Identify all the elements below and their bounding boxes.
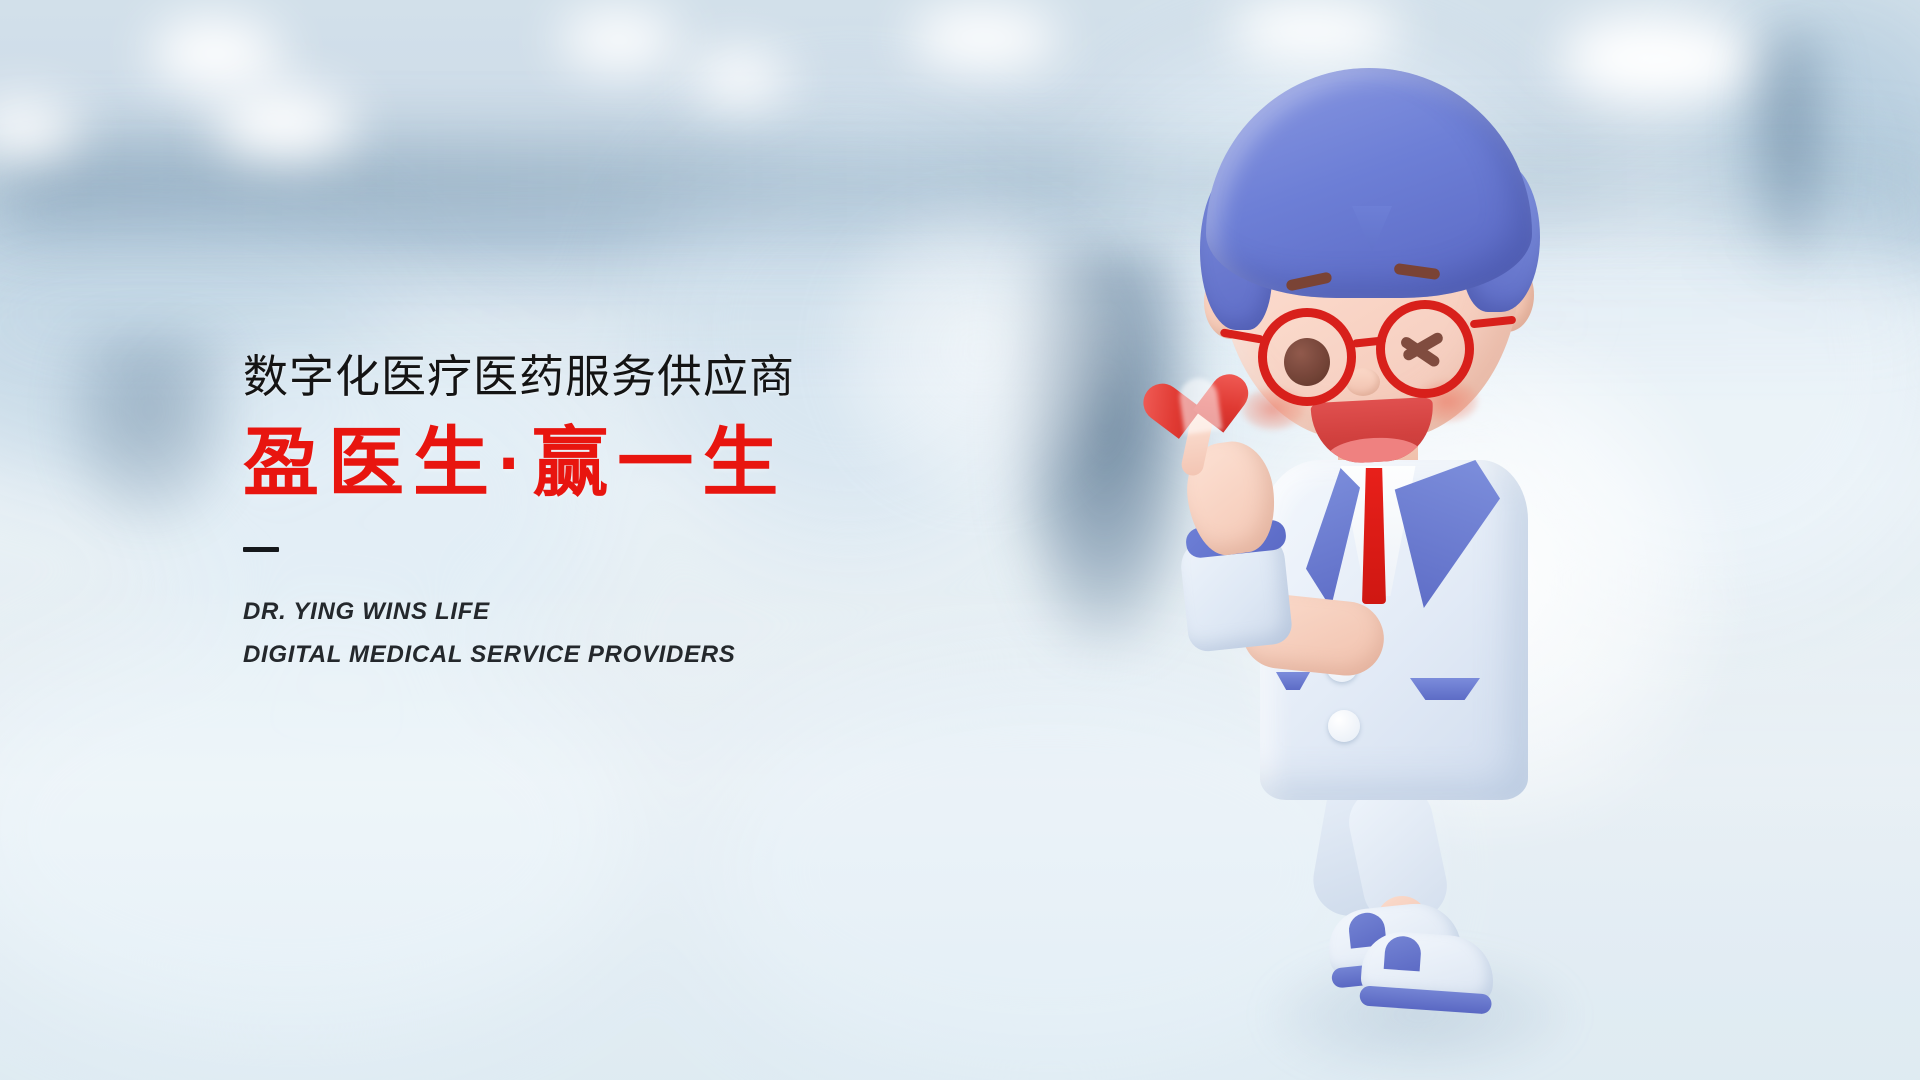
ceiling-light [690, 52, 790, 104]
mascot-hair [1206, 68, 1532, 298]
ceiling-light [215, 88, 355, 158]
hero-english-block: DR. YING WINS LIFE DIGITAL MEDICAL SERVI… [243, 590, 963, 676]
ceiling-light [910, 6, 1060, 70]
mascot-glasses-lens-right [1376, 300, 1474, 398]
mascot-glasses-lens-left [1258, 308, 1356, 406]
background-column-shadow [1745, 30, 1835, 270]
ceiling-light [152, 18, 282, 90]
hero-headline: 盈医生·赢一生 [243, 424, 963, 504]
hero-copy: 数字化医疗医药服务供应商 盈医生·赢一生 DR. YING WINS LIFE … [243, 352, 963, 676]
hero-english-line-2: DIGITAL MEDICAL SERVICE PROVIDERS [243, 633, 963, 676]
mascot-coat-button [1328, 710, 1360, 742]
hero-subtitle: 数字化医疗医药服务供应商 [243, 352, 963, 402]
mascot-mouth [1310, 397, 1435, 465]
mascot-red-tie [1362, 468, 1386, 604]
hero-banner: 数字化医疗医药服务供应商 盈医生·赢一生 DR. YING WINS LIFE … [0, 0, 1920, 1080]
floating-heart-icon [1164, 364, 1238, 435]
hero-english-line-1: DR. YING WINS LIFE [243, 590, 963, 633]
mascot-shoe-front [1360, 929, 1496, 1002]
hero-divider [243, 547, 279, 552]
background-person-silhouette [60, 330, 240, 530]
mascot-shoe-strap [1384, 935, 1422, 971]
ceiling-light [560, 10, 680, 70]
doctor-mascot-illustration [1180, 50, 1640, 1060]
